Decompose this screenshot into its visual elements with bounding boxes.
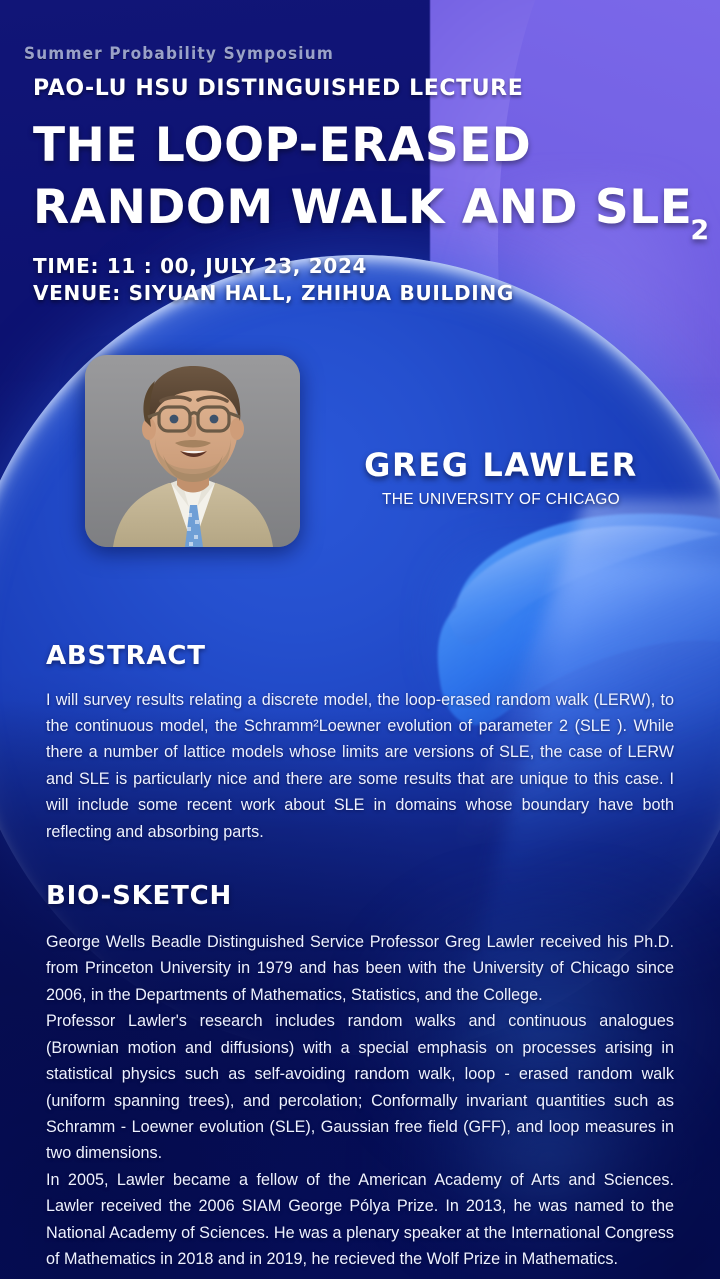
page-title: THE LOOP-ERASED RANDOM WALK AND SLE2	[33, 115, 720, 243]
title-line-1: THE LOOP-ERASED	[33, 115, 720, 177]
event-details: TIME: 11 : 00, JULY 23, 2024 VENUE: SIYU…	[33, 253, 720, 307]
event-venue: VENUE: SIYUAN HALL, ZHIHUA BUILDING	[33, 280, 720, 307]
bio-heading: BIO-SKETCH	[46, 881, 674, 911]
event-time: TIME: 11 : 00, JULY 23, 2024	[33, 253, 720, 280]
lecture-series-title: PAO-LU HSU DISTINGUISHED LECTURE	[33, 76, 720, 101]
speaker-name: GREG LAWLER	[336, 446, 666, 484]
speaker-affiliation: THE UNIVERSITY OF CHICAGO	[336, 491, 666, 509]
title-line-2: RANDOM WALK AND SLE	[33, 180, 692, 235]
abstract-paragraph: I will survey results relating a discret…	[46, 687, 674, 845]
bio-paragraph: Professor Lawler's research includes ran…	[46, 1008, 674, 1166]
bio-paragraph: In 2005, Lawler became a fellow of the A…	[46, 1167, 674, 1273]
bio-section: BIO-SKETCH George Wells Beadle Distingui…	[46, 881, 674, 1272]
poster-body: ABSTRACT I will survey results relating …	[0, 641, 720, 1273]
lecture-poster: Summer Probability Symposium PAO-LU HSU …	[0, 0, 720, 1279]
speaker-block: GREG LAWLER THE UNIVERSITY OF CHICAGO	[0, 333, 720, 633]
bio-body: George Wells Beadle Distinguished Servic…	[46, 929, 674, 1272]
abstract-heading: ABSTRACT	[46, 641, 674, 671]
abstract-section: ABSTRACT I will survey results relating …	[46, 641, 674, 845]
poster-header: Summer Probability Symposium PAO-LU HSU …	[0, 0, 720, 307]
title-line-2-wrapper: RANDOM WALK AND SLE2	[33, 177, 720, 243]
title-subscript: 2	[690, 215, 709, 246]
abstract-body: I will survey results relating a discret…	[46, 687, 674, 845]
avatar	[85, 355, 300, 547]
symposium-eyebrow: Summer Probability Symposium	[24, 44, 720, 64]
bio-paragraph: George Wells Beadle Distinguished Servic…	[46, 929, 674, 1008]
